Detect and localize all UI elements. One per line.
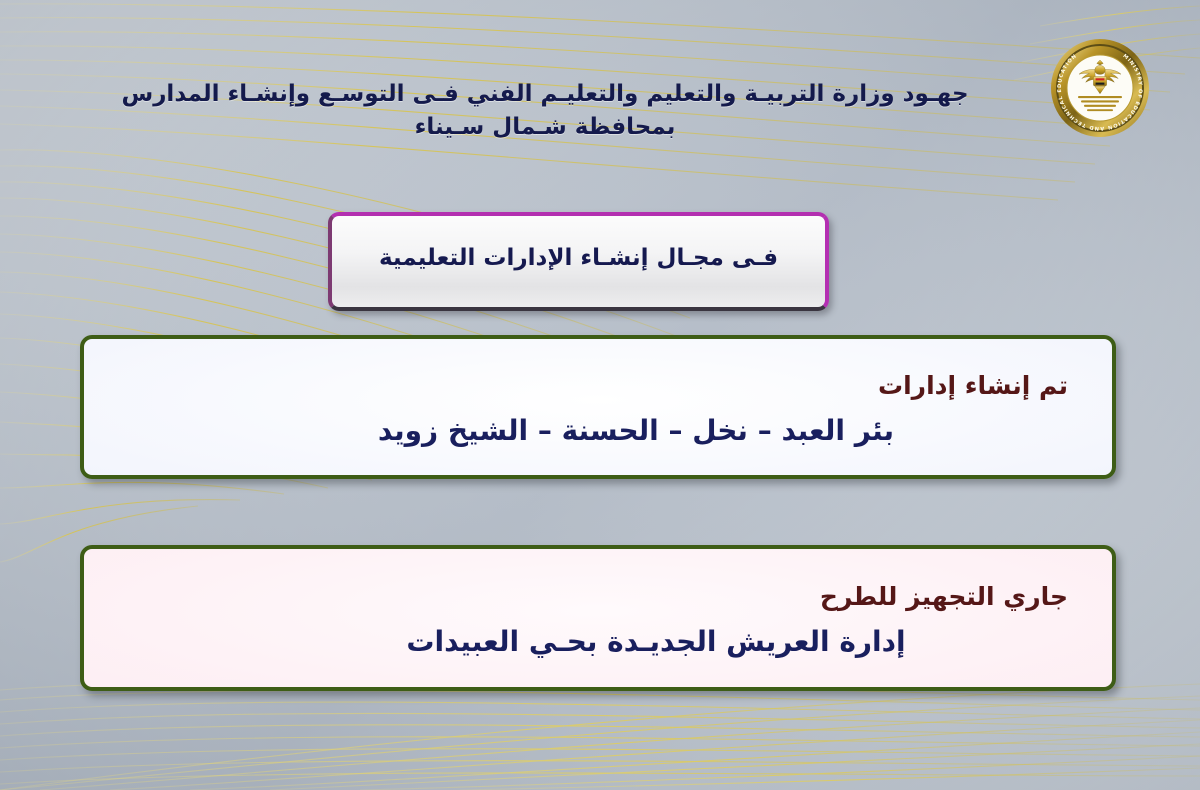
title-line-1: جهـود وزارة التربيـة والتعليم والتعليـم … bbox=[60, 78, 1030, 111]
box-established: تم إنشاء إدارات بئر العبد – نخل – الحسنة… bbox=[80, 335, 1116, 479]
section-header-label: فـى مجـال إنشـاء الإدارات التعليمية bbox=[379, 245, 778, 271]
box-in-preparation-body: إدارة العريش الجديـدة بحـي العبيدات bbox=[114, 624, 1068, 659]
box-in-preparation-heading: جاري التجهيز للطرح bbox=[114, 581, 1068, 612]
box-established-body: بئر العبد – نخل – الحسنة – الشيخ زويد bbox=[114, 413, 1068, 448]
section-header-box: فـى مجـال إنشـاء الإدارات التعليمية bbox=[328, 212, 829, 311]
page-title: جهـود وزارة التربيـة والتعليم والتعليـم … bbox=[0, 78, 1200, 143]
title-line-2: بمحافظة شـمال سـيناء bbox=[60, 111, 1030, 144]
box-in-preparation: جاري التجهيز للطرح إدارة العريش الجديـدة… bbox=[80, 545, 1116, 691]
slide-root: MINISTRY OF EDUCATION AND TECHNICAL EDUC… bbox=[0, 0, 1200, 790]
box-established-heading: تم إنشاء إدارات bbox=[114, 370, 1068, 401]
